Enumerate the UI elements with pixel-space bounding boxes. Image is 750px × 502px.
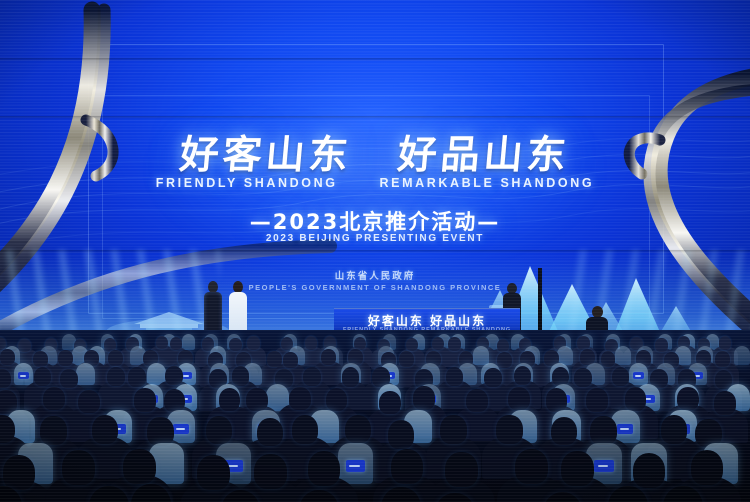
led-band <box>0 116 750 119</box>
audience-person-head <box>92 415 118 444</box>
audience-person-head <box>586 388 608 411</box>
audience-person-head <box>574 368 592 387</box>
audience-person-head <box>0 349 15 365</box>
slogan-cn-row: 好客山东 好品山东 <box>0 124 750 180</box>
audience-person-head <box>546 388 568 411</box>
audience-person-head <box>601 351 616 367</box>
audience-person-head <box>391 449 423 484</box>
audience-person-head <box>514 366 532 385</box>
event-photo-scene: 好客山东 好品山东 FRIENDLY SHANDONG REMARKABLE S… <box>0 0 750 502</box>
slogan-en-right: REMARKABLE SHANDONG <box>380 176 595 190</box>
audience-person-head <box>58 350 73 366</box>
audience-person-head <box>432 337 444 351</box>
audience-person-head <box>123 449 155 484</box>
audience-person-head <box>170 337 182 351</box>
audience-person-head <box>229 338 241 352</box>
event-title-cn: —2023北京推介活动— <box>0 206 750 236</box>
slogan-en-left: FRIENDLY SHANDONG <box>156 176 338 190</box>
audience-person-head <box>448 337 460 351</box>
slogan-en-row: FRIENDLY SHANDONG REMARKABLE SHANDONG <box>0 176 750 190</box>
audience-person-head <box>342 367 360 386</box>
audience-person-head <box>484 368 502 387</box>
audience-chair <box>734 346 750 365</box>
chair-back-card <box>594 460 614 472</box>
audience-person-head <box>246 388 268 411</box>
audience-person-head <box>107 367 125 386</box>
audience-person-head <box>399 351 414 367</box>
audience-person-head <box>78 390 100 413</box>
audience-person-head <box>552 367 570 386</box>
audience-person-head <box>497 339 509 353</box>
audience-person-head <box>308 451 340 486</box>
audience-person-head <box>577 336 589 350</box>
audience-person-head <box>321 349 336 365</box>
audience-person-head <box>0 369 11 388</box>
audience-area <box>0 330 750 502</box>
audience-person-head <box>496 415 522 444</box>
audience-person-head <box>43 387 65 410</box>
led-band <box>0 250 750 253</box>
audience-person-head <box>561 451 593 486</box>
audience-person-head <box>445 452 477 487</box>
audience-person-head <box>292 415 318 444</box>
audience-person-head <box>128 367 146 386</box>
audience-person-head <box>219 388 241 411</box>
audience-person-head <box>625 387 647 410</box>
audience-person-head <box>379 391 401 414</box>
audience-person-head <box>677 387 699 410</box>
audience-person-head <box>289 387 311 410</box>
audience-person-head <box>719 336 731 350</box>
audience-person-head <box>134 388 156 411</box>
audience-person-head <box>197 455 229 490</box>
chair-back-card <box>617 424 633 434</box>
audience-person-head <box>40 416 66 445</box>
organizer-en: PEOPLE'S GOVERNMENT OF SHANDONG PROVINCE <box>0 283 750 292</box>
audience-person-head <box>283 352 298 368</box>
audience-chair <box>473 346 489 365</box>
audience-person-head <box>551 417 577 446</box>
event-title-en: 2023 BEIJING PRESENTING EVENT <box>0 233 750 244</box>
audience-person-head <box>661 415 687 444</box>
audience-person-head <box>257 418 283 447</box>
audience-person-head <box>34 367 52 386</box>
audience-person-head <box>691 450 723 485</box>
led-band <box>0 58 750 61</box>
audience-person-head <box>406 338 418 352</box>
audience-person-head <box>62 450 94 485</box>
slogan-cn-right: 好品山东 <box>396 124 573 180</box>
audience-person-head <box>60 369 78 388</box>
audience-person-head <box>164 389 186 412</box>
chair-back-card <box>633 372 644 379</box>
audience-person-head <box>446 367 464 386</box>
led-backdrop-wall: 好客山东 好品山东 FRIENDLY SHANDONG REMARKABLE S… <box>0 0 750 352</box>
chair-back-card <box>346 460 366 472</box>
audience-person-head <box>590 416 616 445</box>
audience-person-head <box>655 338 667 352</box>
audience-person-head <box>466 389 488 412</box>
audience-person-head <box>326 388 348 411</box>
audience-person-head <box>612 367 630 386</box>
audience-person-head <box>206 416 232 445</box>
audience-person-head <box>515 449 547 484</box>
audience-person-head <box>18 339 30 353</box>
audience-person-head <box>305 336 317 350</box>
slogan-cn-left: 好客山东 <box>178 124 355 180</box>
audience-person-head <box>714 391 736 414</box>
audience-person-head <box>508 387 530 410</box>
audience-person-head <box>156 336 168 350</box>
organizer-cn: 山东省人民政府 <box>0 268 750 282</box>
audience-chair <box>76 363 95 385</box>
audience-person-head <box>388 420 414 449</box>
audience-person-head <box>497 352 512 368</box>
audience-person-head <box>440 415 466 444</box>
chair-back-card <box>173 424 189 434</box>
audience-chair <box>615 346 631 365</box>
audience-person-head <box>303 367 321 386</box>
chair-back-card <box>181 372 192 379</box>
audience-person-head <box>165 366 183 385</box>
audience-person-head <box>33 351 48 367</box>
audience-person-head <box>254 454 286 489</box>
audience-person-head <box>715 351 730 367</box>
audience-person-head <box>147 417 173 446</box>
audience-person-head <box>3 455 35 490</box>
audience-person-head <box>345 415 371 444</box>
audience-chair <box>182 334 196 350</box>
audience-person-head <box>108 350 123 366</box>
audience-person-head <box>232 366 250 385</box>
audience-person-head <box>413 386 435 409</box>
audience-person-head <box>247 336 259 350</box>
chair-back-card <box>18 372 29 379</box>
audience-person-head <box>633 453 665 488</box>
